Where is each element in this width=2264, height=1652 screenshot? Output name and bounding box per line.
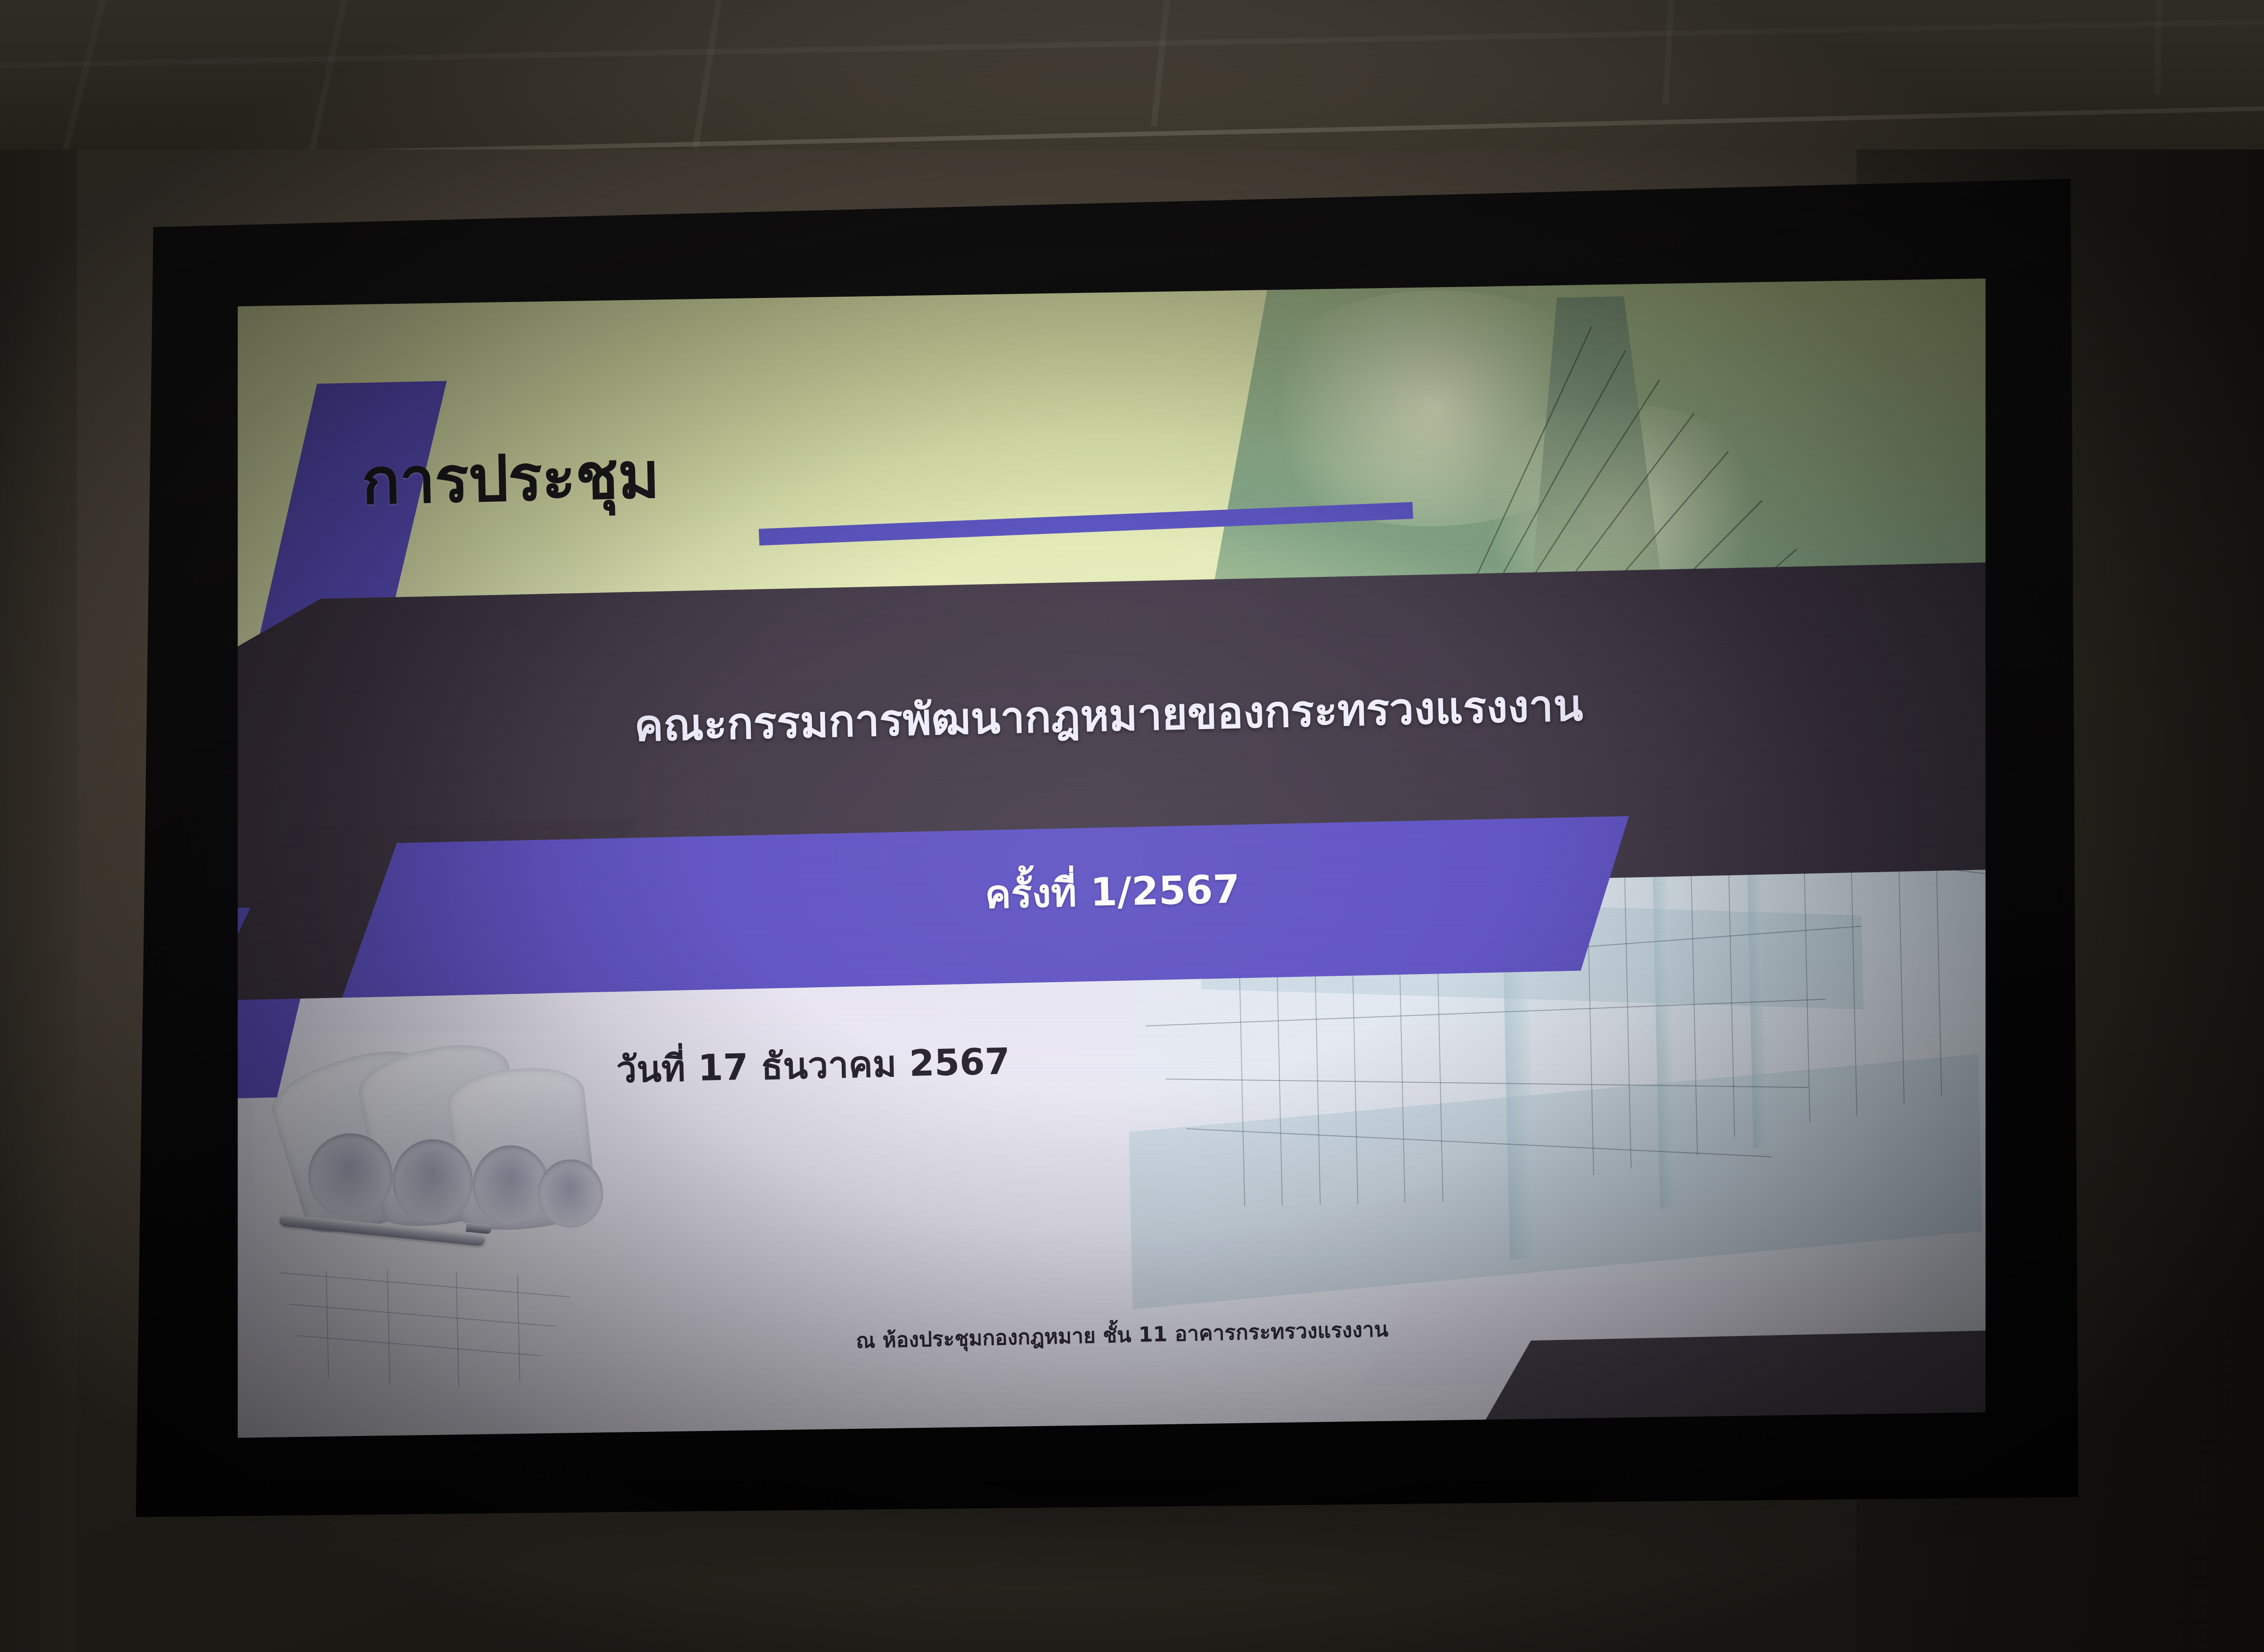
slide-title: การประชุม xyxy=(361,444,660,514)
floorplan-line xyxy=(289,1304,555,1327)
wireframe-slab xyxy=(1129,1054,1982,1309)
floorplan-line xyxy=(456,1272,459,1386)
slide-content: การประชุม คณะกรรมการพัฒนากฎหมายของกระทรว… xyxy=(238,279,1986,1438)
wireframe-line xyxy=(1146,999,1826,1027)
ceiling xyxy=(0,0,2264,149)
screen-drop-shadow xyxy=(149,1481,2078,1585)
floorplan-line xyxy=(517,1275,520,1382)
slide-date: วันที่ 17 ธันวาคม 2567 xyxy=(616,1032,1011,1099)
projected-slide: การประชุม คณะกรรมการพัฒนากฎหมายของกระทรว… xyxy=(238,279,1986,1438)
floorplan-line xyxy=(281,1273,570,1297)
room-wall-left-edge xyxy=(0,0,77,1652)
meeting-room-scene: การประชุม คณะกรรมการพัฒนากฎหมายของกระทรว… xyxy=(0,0,2264,1652)
